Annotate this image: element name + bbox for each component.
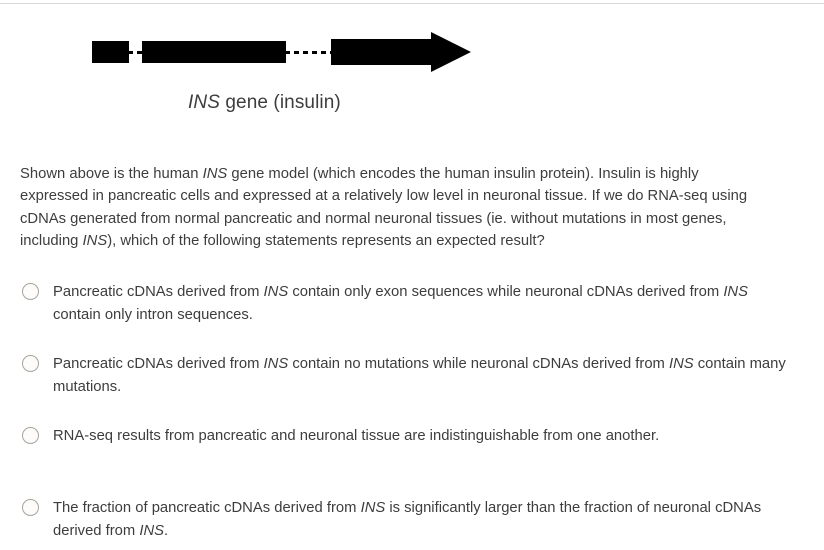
answer-option-a[interactable]: Pancreatic cDNAs derived from INS contai…: [20, 281, 790, 329]
answer-option-c-label: RNA-seq results from pancreatic and neur…: [53, 425, 790, 448]
option-b-segment-2: contain no mutations while neuronal cDNA…: [288, 356, 669, 372]
option-d-segment-3: .: [164, 523, 168, 539]
radio-button-icon-c[interactable]: [22, 427, 39, 444]
answer-option-b[interactable]: Pancreatic cDNAs derived from INS contai…: [20, 353, 790, 401]
figure-caption-rest: gene (insulin): [220, 92, 341, 113]
answer-option-a-label: Pancreatic cDNAs derived from INS contai…: [53, 281, 790, 326]
figure-caption: INS gene (insulin): [188, 92, 341, 114]
intron-2-dashed-line: [285, 51, 332, 54]
intron-1-dashed-line: [128, 51, 143, 54]
option-d-gene-name-2: INS: [139, 523, 164, 539]
radio-button-icon-d[interactable]: [22, 499, 39, 516]
option-b-gene-name-2: INS: [669, 356, 694, 372]
option-b-segment-1: Pancreatic cDNAs derived from: [53, 356, 264, 372]
answer-option-d-label: The fraction of pancreatic cDNAs derived…: [53, 497, 790, 542]
question-prompt: Shown above is the human INS gene model …: [20, 163, 764, 253]
gene-model-figure: INS gene (insulin): [0, 20, 824, 130]
answer-option-c[interactable]: RNA-seq results from pancreatic and neur…: [20, 425, 790, 473]
option-a-segment-3: contain only intron sequences.: [53, 307, 253, 323]
option-c-segment-1: RNA-seq results from pancreatic and neur…: [53, 428, 659, 444]
question-page: INS gene (insulin) Shown above is the hu…: [0, 0, 824, 550]
option-a-gene-name-2: INS: [723, 284, 748, 300]
answer-options-list: Pancreatic cDNAs derived from INS contai…: [20, 281, 790, 545]
prompt-segment-3: ), which of the following statements rep…: [107, 233, 545, 249]
exon-1-block: [92, 41, 129, 63]
option-a-gene-name-1: INS: [264, 284, 289, 300]
option-b-gene-name-1: INS: [264, 356, 289, 372]
option-d-segment-1: The fraction of pancreatic cDNAs derived…: [53, 500, 361, 516]
prompt-segment-1: Shown above is the human: [20, 166, 203, 182]
gene-diagram: [88, 28, 488, 76]
prompt-gene-name-2: INS: [83, 233, 108, 249]
prompt-gene-name-1: INS: [203, 166, 228, 182]
option-a-segment-1: Pancreatic cDNAs derived from: [53, 284, 264, 300]
figure-caption-gene-name: INS: [188, 92, 220, 113]
option-a-segment-2: contain only exon sequences while neuron…: [288, 284, 723, 300]
top-divider: [0, 3, 824, 4]
radio-button-icon-b[interactable]: [22, 355, 39, 372]
radio-button-icon-a[interactable]: [22, 283, 39, 300]
gene-direction-arrow-icon: [431, 32, 471, 72]
option-d-gene-name-1: INS: [361, 500, 386, 516]
answer-option-b-label: Pancreatic cDNAs derived from INS contai…: [53, 353, 790, 398]
answer-option-d[interactable]: The fraction of pancreatic cDNAs derived…: [20, 497, 790, 545]
exon-3-block: [331, 39, 438, 65]
exon-2-block: [142, 41, 286, 63]
